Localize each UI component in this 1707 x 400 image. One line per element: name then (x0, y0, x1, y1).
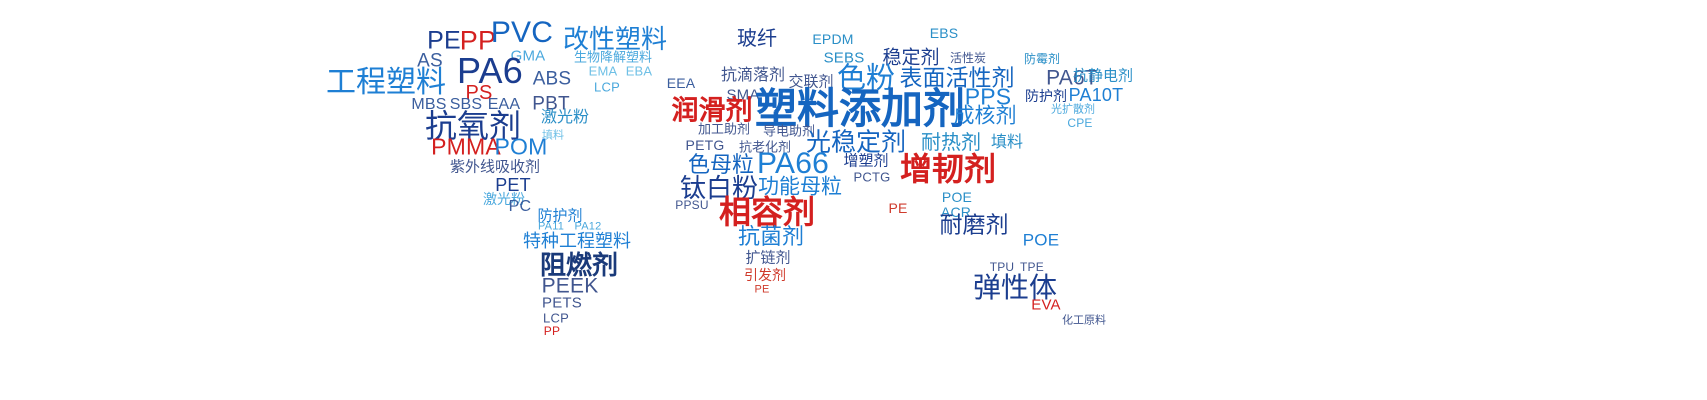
word-cloud-term[interactable]: PCTG (854, 171, 891, 184)
word-cloud-term[interactable]: PMMA (431, 136, 501, 159)
word-cloud-term[interactable]: PC (509, 199, 532, 215)
word-cloud-term[interactable]: 成核剂 (954, 106, 1017, 127)
word-cloud-term[interactable]: ABS (533, 70, 572, 89)
word-cloud-term[interactable]: 玻纤 (737, 29, 777, 49)
word-cloud-term[interactable]: PEEK (542, 276, 599, 297)
word-cloud-term[interactable]: 工程塑料 (326, 68, 446, 98)
word-cloud-term[interactable]: 抗滴落剂 (721, 68, 785, 84)
word-cloud-term[interactable]: POE (942, 190, 972, 204)
word-cloud-term[interactable]: 紫外线吸收剂 (450, 160, 540, 175)
word-cloud-term[interactable]: PETS (542, 296, 582, 311)
word-cloud-term[interactable]: PETG (686, 138, 725, 152)
word-cloud-term[interactable]: CPE (1067, 117, 1092, 129)
word-cloud-term[interactable]: 抗菌剂 (738, 226, 804, 248)
word-cloud-term[interactable]: 增塑剂 (843, 154, 888, 169)
word-cloud-term[interactable]: 防护剂 (1025, 89, 1067, 103)
word-cloud-term[interactable]: LCP (543, 312, 569, 325)
word-cloud-term[interactable]: 激光粉 (541, 110, 589, 126)
word-cloud-term[interactable]: PVC (491, 18, 553, 48)
word-cloud-term[interactable]: 生物降解塑料 (574, 51, 652, 64)
word-cloud-canvas: PEPPPVCGMAASPA6工程塑料PSABSMBSSBSEAAPBT抗氧剂激… (0, 0, 1707, 400)
word-cloud-term[interactable]: EMA (589, 65, 618, 78)
word-cloud-term[interactable]: 耐热剂 (921, 133, 981, 153)
word-cloud-term[interactable]: 改性塑料 (563, 26, 667, 52)
word-cloud-term[interactable]: PE (754, 285, 769, 296)
word-cloud-term[interactable]: EPDM (812, 32, 853, 46)
word-cloud-term[interactable]: 润滑剂 (672, 98, 753, 125)
word-cloud-term[interactable]: EVA (1031, 298, 1061, 313)
word-cloud-term[interactable]: PP (544, 325, 560, 337)
word-cloud-term[interactable]: 增韧剂 (900, 153, 996, 185)
word-cloud-term[interactable]: POE (1023, 232, 1060, 249)
word-cloud-term[interactable]: 扩链剂 (745, 251, 790, 266)
word-cloud-term[interactable]: 防霉剂 (1024, 53, 1060, 65)
word-cloud-term[interactable]: PA66 (757, 149, 829, 179)
word-cloud-term[interactable]: 特种工程塑料 (523, 232, 631, 250)
word-cloud-term[interactable]: 耐磨剂 (940, 214, 1009, 237)
word-cloud-term[interactable]: 光扩散剂 (1051, 105, 1095, 116)
word-cloud-term[interactable]: EBA (626, 65, 653, 78)
word-cloud-term[interactable]: 引发剂 (744, 268, 786, 282)
word-cloud-term[interactable]: POM (495, 136, 548, 159)
word-cloud-term[interactable]: 化工原料 (1062, 316, 1106, 327)
word-cloud-term[interactable]: PA10T (1069, 86, 1124, 104)
word-cloud-term[interactable]: 填料 (991, 135, 1023, 151)
word-cloud-term[interactable]: LCP (594, 81, 620, 94)
word-cloud-term[interactable]: 加工助剂 (698, 123, 750, 136)
word-cloud-term[interactable]: PE (888, 201, 907, 215)
word-cloud-term[interactable]: 抗静电剂 (1073, 69, 1133, 84)
word-cloud-term[interactable]: EBS (930, 26, 959, 40)
word-cloud-term[interactable]: PPSU (675, 199, 708, 211)
word-cloud-term[interactable]: 活性炭 (950, 52, 986, 64)
word-cloud-term[interactable]: EEA (667, 76, 696, 90)
